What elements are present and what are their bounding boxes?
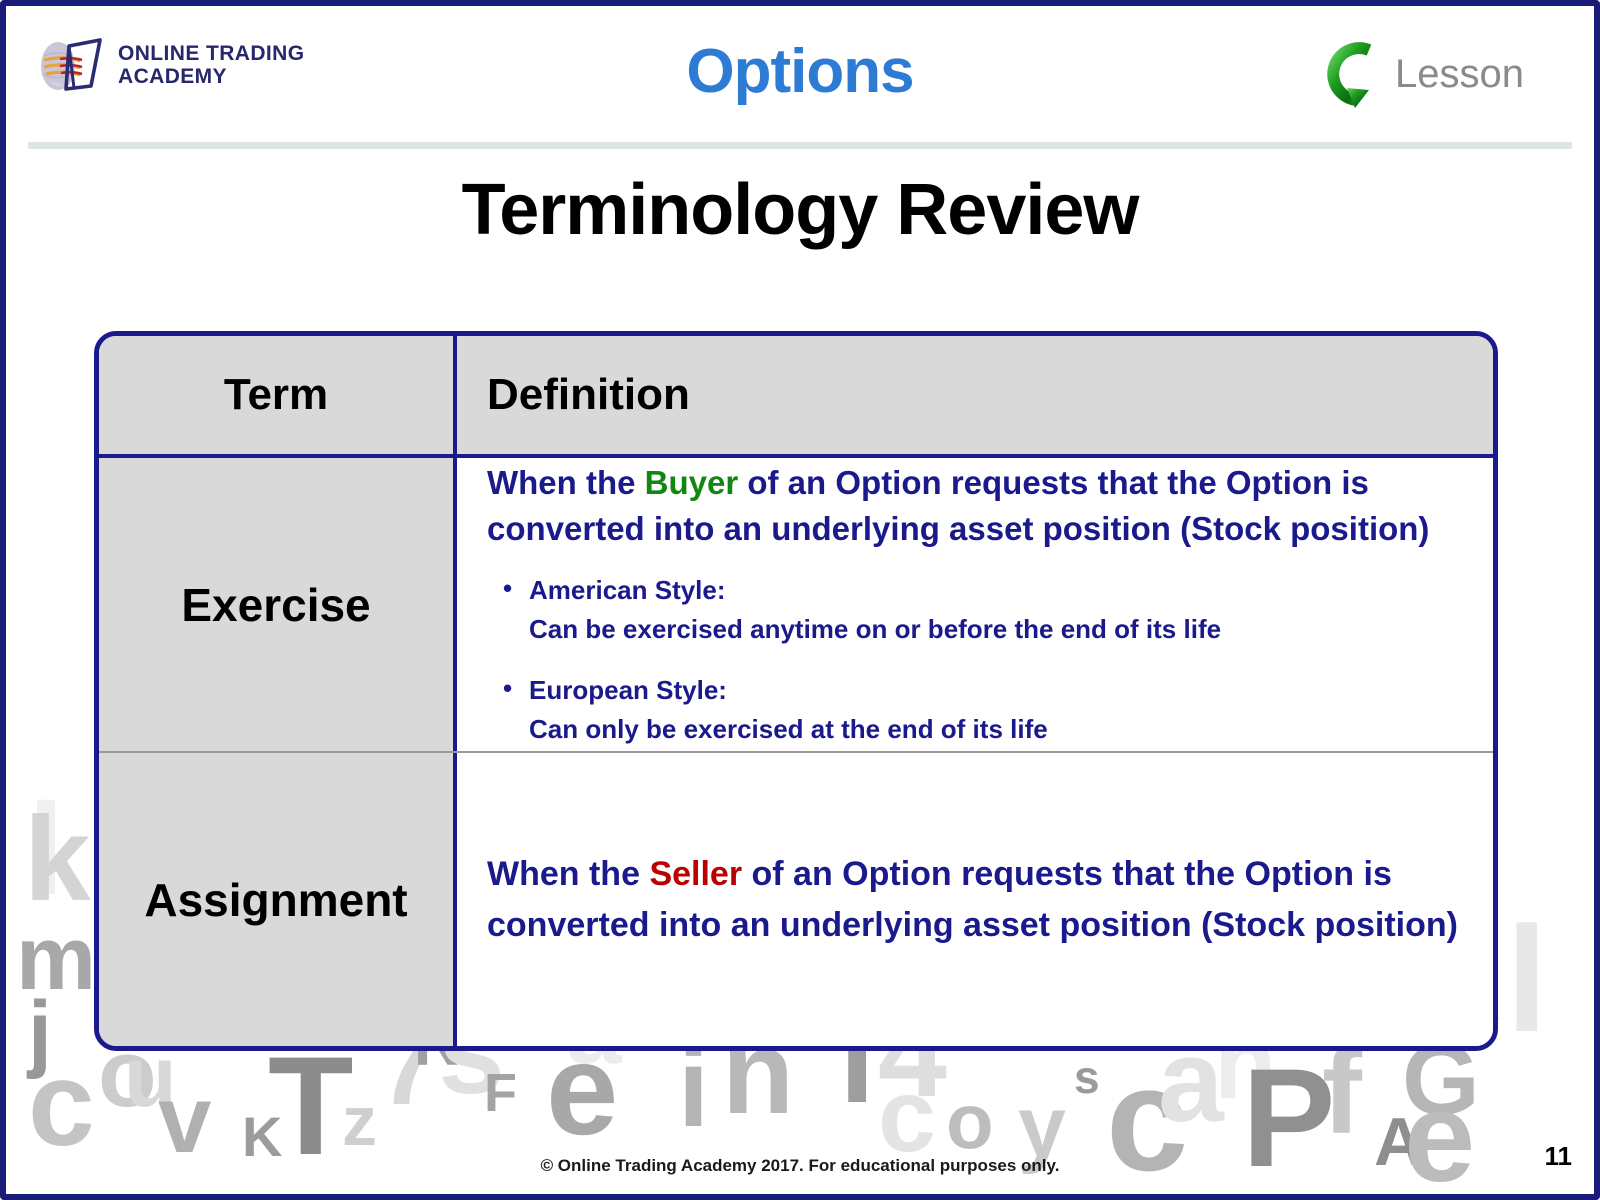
slide-canvas: lkmjcouvKTz7RsFeainf4coyscanPfAGeWkdl ON… [0, 0, 1600, 1200]
copyright-notice: © Online Trading Academy 2017. For educa… [6, 1156, 1594, 1176]
lesson-label: Lesson [1395, 52, 1524, 97]
lesson-badge: Lesson [1317, 34, 1524, 114]
bullet-european-detail: Can only be exercised at the end of its … [529, 710, 1475, 749]
definition-cell-exercise: When the Buyer of an Option requests tha… [457, 458, 1493, 751]
column-header-term-cell: Term [99, 336, 457, 454]
term-label-assignment: Assignment [144, 873, 407, 927]
bullet-american-detail: Can be exercised anytime on or before th… [529, 610, 1475, 649]
page-number: 11 [1545, 1141, 1573, 1172]
background-letter: c [878, 1064, 936, 1168]
background-letter: l [1506, 904, 1548, 1054]
bullet-american-style: American Style: Can be exercised anytime… [487, 571, 1475, 649]
definition-lead-exercise: When the Buyer of an Option requests tha… [487, 460, 1475, 550]
terminology-table: Term Definition Exercise When the Buyer … [94, 331, 1498, 1051]
page-title: Terminology Review [6, 169, 1594, 251]
definition-cell-assignment: When the Seller of an Option requests th… [457, 753, 1493, 1046]
bullet-european-title: European Style: [529, 675, 727, 705]
table-row-exercise: Exercise When the Buyer of an Option req… [99, 458, 1493, 753]
table-header-row: Term Definition [99, 336, 1493, 458]
background-letter: j [28, 989, 52, 1075]
assignment-lead-part-0: When the [487, 855, 649, 893]
highlight-seller: Seller [649, 855, 742, 893]
background-letter: v [158, 1072, 211, 1168]
table-row-assignment: Assignment When the Seller of an Option … [99, 753, 1493, 1046]
background-letter: e [1404, 1074, 1475, 1194]
header-divider [28, 142, 1572, 149]
background-letter: z [342, 1086, 377, 1156]
column-header-definition-cell: Definition [457, 336, 1493, 454]
circular-arrow-icon [1317, 34, 1389, 114]
exercise-style-bullets: American Style: Can be exercised anytime… [487, 571, 1475, 749]
term-label-exercise: Exercise [181, 578, 370, 632]
background-letter: o [946, 1082, 994, 1160]
background-letter: F [484, 1066, 517, 1120]
background-letter: s [1074, 1054, 1100, 1100]
background-letter: m [16, 914, 96, 1004]
definition-lead-part-0: When the [487, 464, 645, 501]
background-letter: l [28, 784, 64, 914]
bullet-american-title: American Style: [529, 575, 726, 605]
bullet-european-style: European Style: Can only be exercised at… [487, 671, 1475, 749]
definition-lead-assignment: When the Seller of an Option requests th… [487, 849, 1475, 951]
background-letter: k [24, 799, 91, 919]
background-letter: c [28, 1044, 95, 1164]
slide-header: ONLINE TRADING ACADEMY Options Lesson [6, 6, 1594, 138]
term-cell-assignment: Assignment [99, 753, 457, 1046]
term-cell-exercise: Exercise [99, 458, 457, 751]
highlight-buyer: Buyer [645, 464, 739, 501]
column-header-definition: Definition [487, 370, 1475, 420]
column-header-term: Term [224, 370, 328, 420]
background-letter: T [268, 1036, 354, 1176]
